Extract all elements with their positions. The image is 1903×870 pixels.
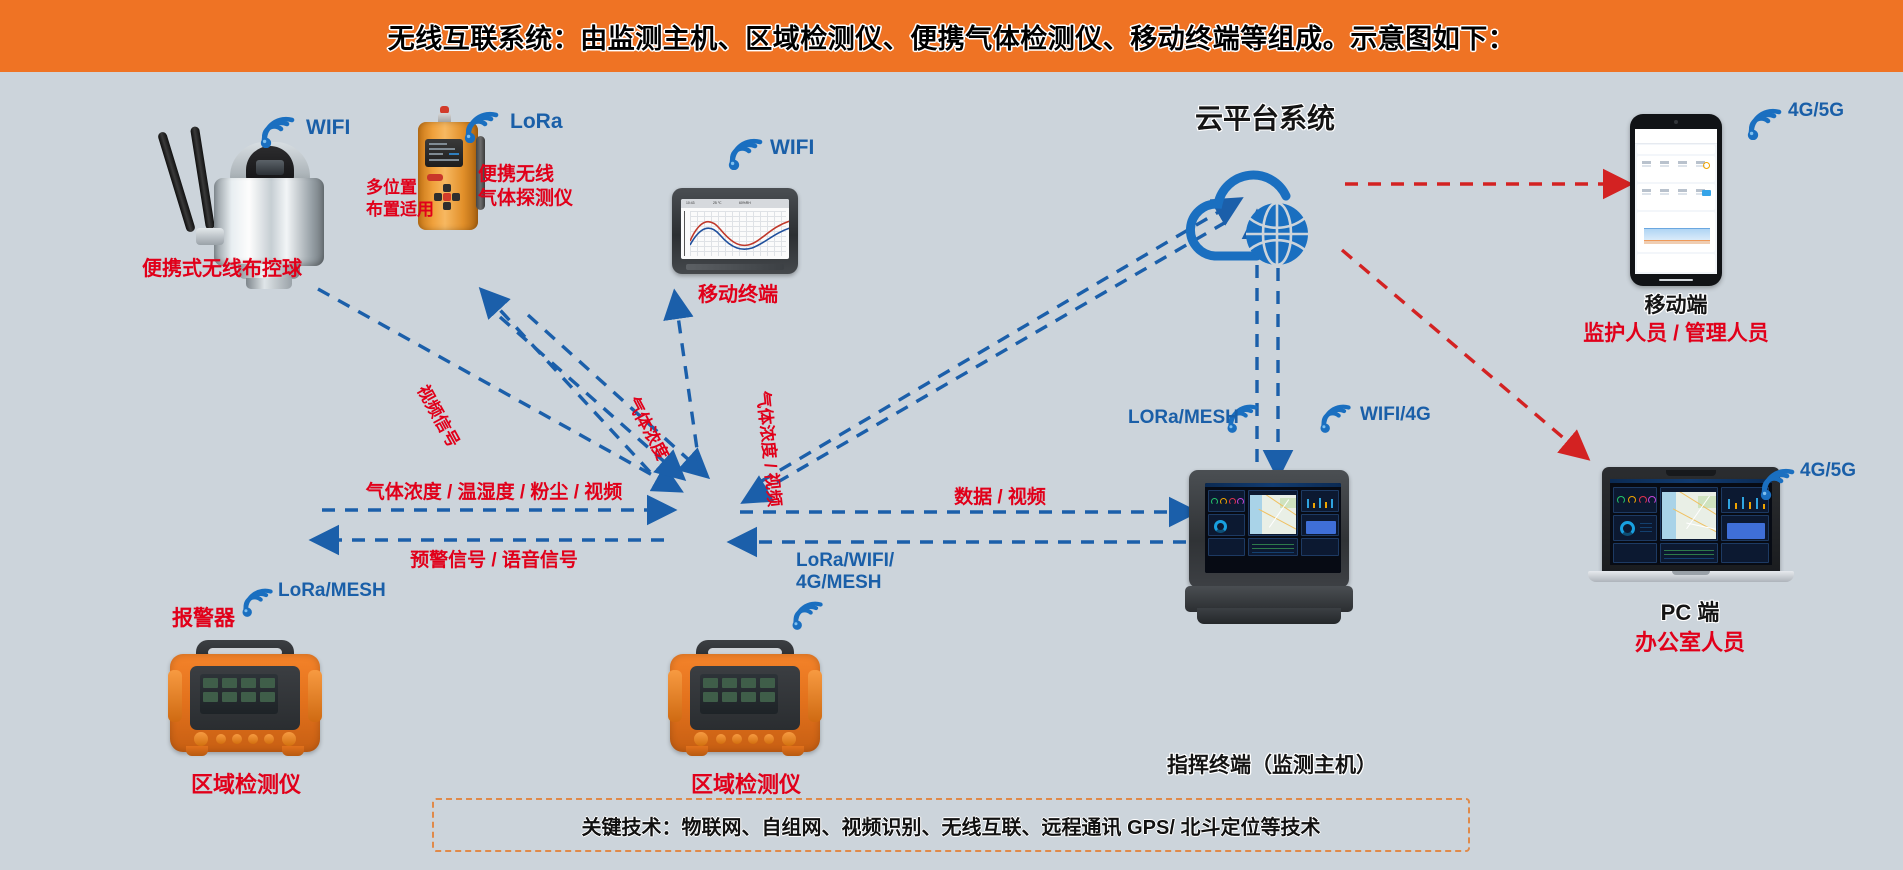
phone-list-card [1637,254,1715,272]
pc-client-role: 办公室人员 [1635,630,1745,656]
pc-panel-datatable [1660,543,1718,563]
handheld-note-line2: 布置适用 [366,200,434,220]
ptz-camera-label: 便携式无线布控球 [142,258,302,282]
phone-kpi-5 [1642,189,1651,197]
pc-gauge-2 [1628,496,1636,504]
phone-status-bar [1635,129,1717,136]
rugged-panel-video [1301,514,1339,536]
rugged-lid [1189,470,1349,588]
phone-camera-icon [1674,120,1678,124]
tablet-wireless-label: WIFI [770,136,814,161]
pc-donut-legend [1637,522,1655,537]
rugged-video-feed [1306,521,1336,534]
tablet-status-humidity: 60%RH [739,201,751,205]
rugged-donut-chart [1214,520,1227,533]
phone-chart-card [1637,212,1715,252]
area-detector-left-bumper-right [308,670,322,722]
phone-kpi-7 [1678,189,1687,197]
camera-body [214,178,324,266]
pc-client-label: PC 端 [1661,600,1720,626]
wifi-icon-pc [1758,464,1798,505]
phone-kpi-3 [1678,161,1687,169]
area-detector-left-wireless-label: LoRa/MESH [278,580,386,602]
pc-gauge-1 [1617,496,1625,504]
pc-map-view [1662,492,1716,539]
phone-screen [1635,129,1717,274]
alarm-device-label: 报警器 [172,607,235,632]
device-area-detector-center[interactable] [670,640,820,752]
pc-panel-donut [1613,515,1657,541]
rugged-gauge-4 [1237,498,1244,505]
wifi-icon-handheld [462,107,502,148]
pc-map-water [1662,492,1676,539]
cloud-platform-label: 云平台系统 [1195,102,1335,135]
phone-chart-area-orange [1644,240,1710,244]
cloud-platform-icon-wrap[interactable] [1185,152,1345,277]
rugged-lower-chassis [1197,608,1341,624]
phone-home-indicator [1659,279,1693,282]
phone-kpi-2 [1660,161,1669,169]
pc-video-feed [1727,523,1765,539]
area-detector-center-label: 区域检测仪 [691,772,801,798]
rugged-panel-datatable [1248,538,1298,556]
phone-toolbar-card [1637,145,1715,154]
rugged-gauge-3 [1229,498,1236,505]
area-detector-left-foot-left [186,746,208,756]
rugged-panel-meters [1301,490,1339,512]
phone-chart [1641,218,1711,248]
tablet-chart-yaxis [684,211,685,256]
pc-panel-bottom-right [1721,543,1769,563]
pc-panel-map [1660,487,1718,541]
handheld-wireless-label: LoRa [510,110,563,135]
detector-dpad-center[interactable] [443,193,451,201]
area-detector-left-label: 区域检测仪 [191,772,301,798]
rugged-map-view [1250,495,1296,534]
device-mobile-terminal-tablet[interactable]: 10:43 25 ℃ 60%RH [672,188,798,274]
phone-wireless-label: 4G/5G [1788,100,1844,122]
area-detector-center-display [700,674,778,714]
area-detector-center-wireless-line1: LoRa/WIFI/ [796,550,894,572]
pc-gauge-4 [1648,496,1656,504]
device-smartphone[interactable] [1630,114,1722,286]
mobile-terminal-label: 移动终端 [698,284,778,308]
pc-panel-gauges [1613,487,1657,513]
pc-map-road-2 [1673,508,1716,533]
handheld-detector-label-line1: 便携无线 [478,164,554,186]
tablet-screen: 10:43 25 ℃ 60%RH [681,199,789,259]
wifi-icon-command-right [1318,400,1354,438]
area-detector-left-bumper-left [168,670,182,722]
detector-power-button[interactable] [427,174,443,181]
device-command-terminal[interactable] [1185,470,1353,628]
camera-connector [196,228,224,245]
key-technologies-text: 关键技术：物联网、自组网、视频识别、无线互联、远程通讯 GPS/ 北斗定位等技术 [582,811,1321,840]
tablet-status-temp: 25 ℃ [713,201,722,205]
area-detector-center-buttons[interactable] [694,732,798,746]
edge-label-uplink: 气体浓度 / 温湿度 / 粉尘 / 视频 [366,482,623,504]
antenna-left-icon [157,131,196,233]
page-title: 无线互联系统：由监测主机、区域检测仪、便携气体检测仪、移动终端等组成。示意图如下… [388,17,1516,56]
pc-wireless-label: 4G/5G [1800,460,1856,482]
detector-screen [425,139,463,167]
command-wireless-label-left: LORa/MESH [1128,407,1239,429]
wifi-icon-area-detector-center [790,597,826,635]
wifi-icon-tablet [726,134,766,175]
edge-label-data-video: 数据 / 视频 [954,487,1046,509]
area-detector-left-display [200,674,278,714]
page-header: 无线互联系统：由监测主机、区域检测仪、便携气体检测仪、移动终端等组成。示意图如下… [0,0,1903,72]
command-wireless-label-right: WIFI/4G [1360,404,1431,426]
cloud-globe-icon [1185,152,1345,272]
rugged-gauge-2 [1220,498,1227,505]
phone-kpi-card-1 [1637,156,1715,182]
rugged-gauge-1 [1211,498,1218,505]
rugged-panel-gauges [1208,490,1245,512]
edge-label-video-signal: 视频信号 [412,382,463,451]
antenna-right-icon [190,126,215,230]
mobile-client-role: 监护人员 / 管理人员 [1583,322,1769,347]
pc-panel-bottom-left [1613,543,1657,563]
pc-screen [1610,479,1772,565]
area-detector-center-foot-right [782,746,804,756]
wifi-icon-area-detector-left [240,584,276,622]
rugged-map-water [1250,495,1262,534]
phone-kpi-6 [1660,189,1669,197]
area-detector-center-foot-left [686,746,708,756]
handheld-detector-label-line2: 气体探测仪 [478,188,573,210]
rugged-panel-bottom-right [1301,538,1339,556]
wifi-icon-phone [1745,104,1785,145]
pc-notch [1666,470,1716,476]
pc-dashboard [1610,479,1772,565]
pc-trackpad-notch [1672,571,1710,575]
rugged-panel-donut [1208,514,1245,536]
rugged-meter-bars [1305,497,1336,508]
edge-label-gas-concentration-left: 气体浓度 [622,394,672,463]
rugged-datatable-rows [1249,539,1297,555]
tablet-function-buttons[interactable] [686,264,784,270]
area-detector-center-bumper-right [808,670,822,722]
rugged-panel-bottom-left [1208,538,1245,556]
tablet-chart-plot [690,211,786,256]
pc-dashboard-titlebar [1610,479,1772,483]
wifi-icon-ptz [258,112,298,153]
phone-app-header [1635,136,1717,144]
pc-donut-chart [1620,521,1635,536]
handheld-note-line1: 多位置 [366,178,417,198]
pc-gauge-3 [1639,496,1647,504]
pc-panel-video [1721,515,1769,541]
area-detector-center-wireless-line2: 4G/MESH [796,572,882,594]
diagram-canvas: WIFI 便携式无线布控球 LoRa 多位置 布置适用 便携无线 气体探测仪 [0,72,1903,870]
pc-datatable-rows [1661,544,1717,562]
rugged-dashboard-titlebar [1205,483,1341,487]
phone-kpi-1 [1642,161,1651,169]
phone-status-dot-warning [1703,162,1710,169]
mobile-client-label: 移动端 [1645,294,1708,319]
pc-lid [1602,467,1780,573]
ptz-wireless-label: WIFI [306,116,350,141]
device-area-detector-left[interactable] [170,640,320,752]
area-detector-left-foot-right [282,746,304,756]
edge-label-downlink: 预警信号 / 语音信号 [410,550,578,572]
tablet-status-bar: 10:43 25 ℃ 60%RH [681,199,789,208]
phone-kpi-card-2 [1637,184,1715,210]
phone-status-chip [1702,190,1711,196]
rugged-panel-map [1248,490,1298,536]
command-terminal-label: 指挥终端（监测主机） [1167,754,1377,779]
camera-lens-glass [256,160,284,175]
rugged-screen [1205,483,1341,573]
key-technologies-box: 关键技术：物联网、自组网、视频识别、无线互联、远程通讯 GPS/ 北斗定位等技术 [432,798,1470,852]
area-detector-left-buttons[interactable] [194,732,298,746]
edge-label-gas-and-video: 气体浓度 / 视频 [752,390,784,508]
rugged-dashboard [1205,483,1341,573]
area-detector-center-bumper-left [668,670,682,722]
tablet-status-time: 10:43 [686,201,695,205]
